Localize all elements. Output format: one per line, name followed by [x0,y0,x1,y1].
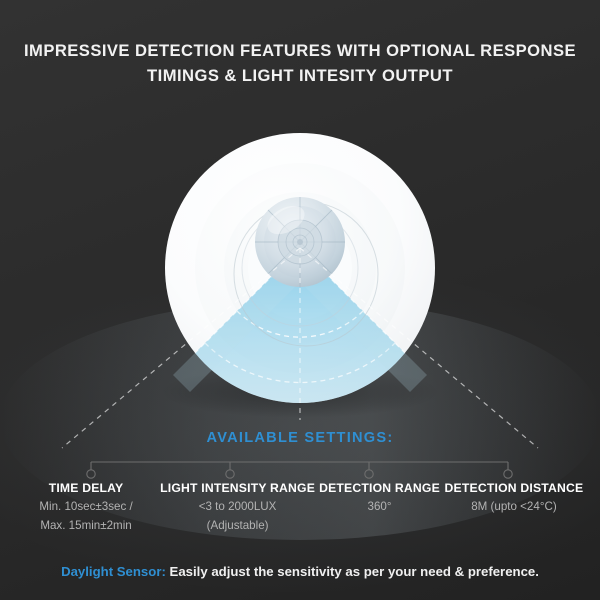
infographic-page: IMPRESSIVE DETECTION FEATURES WITH OPTIO… [0,0,600,600]
spec-title: DETECTION DISTANCE [444,480,584,496]
footer-label: Daylight Sensor: [61,564,166,579]
fresnel-dome [255,197,345,287]
settings-bracket [87,462,512,478]
spec-sub-line-2: Max. 15min±2min [16,518,156,534]
cone-arc-far [205,343,395,382]
spec-title: LIGHT INTENSITY RANGE [160,480,315,496]
spec-sub-line-1: <3 to 2000LUX [160,499,315,515]
cone-arc-near [237,311,363,337]
spec-sub-line-1: 360° [319,499,440,515]
spec-sub-line-2: (Adjustable) [160,518,315,534]
sensor-ring-inner [248,216,352,320]
sensor-glass-outline-2 [242,210,358,326]
spec-item-detection-range: DETECTION RANGE 360° [317,480,442,515]
spec-title: DETECTION RANGE [319,480,440,496]
spec-item-time-delay: TIME DELAY Min. 10sec±3sec / Max. 15min±… [14,480,158,533]
projection-line-left [62,248,300,448]
cone-spill-right [300,248,427,392]
bracket-node-4 [504,470,512,478]
sensor-ring-outer [195,163,405,373]
footer-note: Daylight Sensor: Easily adjust the sensi… [0,563,600,581]
cone-edge-right [300,248,450,398]
spec-item-detection-distance: DETECTION DISTANCE 8M (upto <24°C) [442,480,586,515]
sensor-shadow [160,366,440,418]
page-title-line-2: TIMINGS & LIGHT INTESITY OUTPUT [0,63,600,88]
page-title: IMPRESSIVE DETECTION FEATURES WITH OPTIO… [0,38,600,88]
spec-columns: TIME DELAY Min. 10sec±3sec / Max. 15min±… [14,480,586,533]
spec-sub-line-1: 8M (upto <24°C) [444,499,584,515]
cone-edge-left [150,248,300,398]
projection-lines [62,248,538,448]
sensor-ring-mid [224,192,376,344]
bracket-node-3 [365,470,373,478]
detection-cone [80,248,520,600]
sensor-outer-disc [165,133,435,403]
spec-title: TIME DELAY [16,480,156,496]
sensor-glass-outline [234,202,378,346]
available-settings-heading: AVAILABLE SETTINGS: [0,430,600,446]
bracket-node-1 [87,470,95,478]
page-title-line-1: IMPRESSIVE DETECTION FEATURES WITH OPTIO… [0,38,600,63]
spec-item-light-intensity-range: LIGHT INTENSITY RANGE <3 to 2000LUX (Adj… [158,480,317,533]
projection-line-right [300,248,538,448]
spec-sub-line-1: Min. 10sec±3sec / [16,499,156,515]
footer-text: Easily adjust the sensitivity as per you… [166,564,539,579]
bracket-node-2 [226,470,234,478]
cone-spill-left [173,248,300,392]
